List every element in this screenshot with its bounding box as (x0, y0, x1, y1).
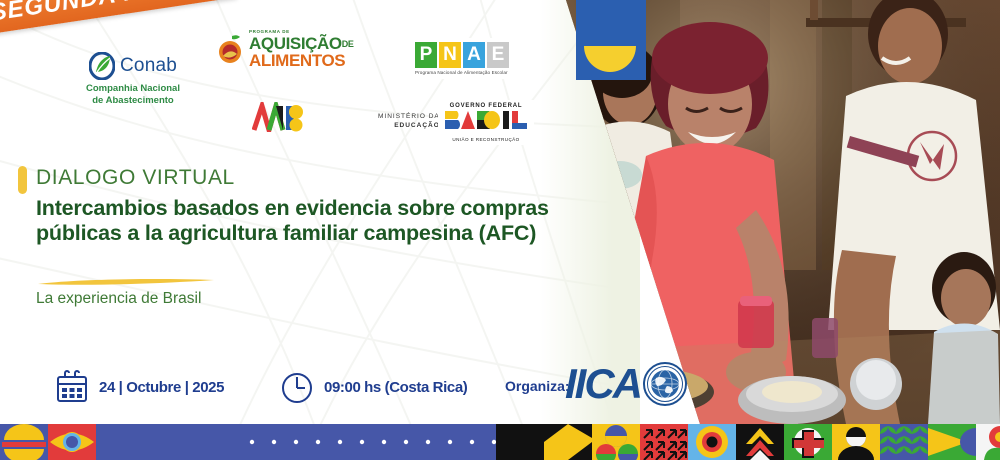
mds-logo-icon (252, 102, 304, 132)
organizer-logo: IICA (565, 362, 687, 406)
band-tile-chevron (736, 424, 784, 460)
band-tile-figure (832, 424, 880, 460)
band-tile-yellow-dome (0, 424, 48, 460)
orange-fruit-icon (218, 34, 244, 64)
paa-line1: AQUISIÇÃO (249, 34, 342, 53)
pnae-subtitle: Programa Nacional de Alimentação Escolar (415, 70, 509, 75)
iica-globe-seal-icon (643, 362, 687, 406)
pnae-letter-e: E (487, 42, 509, 68)
mec-line2: EDUCAÇÃO (378, 121, 440, 130)
poster-root: SEGUNDA PARTE Conab Companhia Nacional d… (0, 0, 1000, 460)
brasil-wordmark-icon (443, 109, 529, 131)
iica-wordmark: IICA (565, 363, 641, 405)
band-tile-green-triangle (928, 424, 976, 460)
band-tile-wheat (880, 424, 928, 460)
blue-square-semicircles-icon (566, 0, 656, 84)
band-dots-section (96, 424, 496, 460)
title-accent-bar (18, 166, 27, 194)
logo-pnae: P N A E Programa Nacional de Alimentação… (409, 38, 515, 79)
title-kicker: DIALOGO VIRTUAL (36, 166, 235, 190)
band-tile-black (496, 424, 544, 460)
pnae-letter-a: A (463, 42, 485, 68)
band-tile-circle-faces (592, 424, 640, 460)
logo-governo-federal: GOVERNO FEDERAL UNIÃO E RECONSTRUÇÃO (438, 100, 534, 145)
clock-icon (280, 370, 314, 404)
band-tile-triangles (544, 424, 592, 460)
conab-subtitle-line1: Companhia Nacional (68, 83, 198, 95)
organizer-label: Organiza: (505, 378, 570, 394)
yellow-brush-underline (36, 278, 216, 286)
event-meta: 24 | Octubre | 2025 09:00 hs (Costa Rica… (55, 370, 467, 404)
gov-bottom-label: UNIÃO E RECONSTRUÇÃO (443, 137, 529, 142)
page-title: Intercambios basados en evidencia sobre … (36, 196, 576, 246)
logo-paa: PROGRAMA DE AQUISIÇÃODE ALIMENTOS (218, 30, 353, 69)
mec-line1: MINISTÉRIO DA (378, 112, 440, 121)
event-time: 09:00 hs (Costa Rica) (324, 379, 467, 396)
conab-subtitle-line2: de Abastecimento (68, 95, 198, 107)
band-tile-target (688, 424, 736, 460)
band-tile-green-cross (784, 424, 832, 460)
logo-conab: Conab Companhia Nacional de Abasteciment… (68, 52, 198, 106)
decorative-bottom-band (0, 424, 1000, 460)
pnae-letter-p: P (415, 42, 437, 68)
logo-ministerio-educacao: MINISTÉRIO DA EDUCAÇÃO (378, 112, 440, 130)
paa-line1-suffix: DE (342, 39, 354, 49)
band-tile-red-arrows (640, 424, 688, 460)
event-date: 24 | Octubre | 2025 (99, 379, 224, 396)
calendar-icon (55, 370, 89, 404)
paa-line2: ALIMENTOS (249, 52, 353, 69)
band-tile-flower (976, 424, 1000, 460)
title-subtitle: La experiencia de Brasil (36, 290, 201, 308)
pnae-letter-n: N (439, 42, 461, 68)
conab-leaf-icon (89, 52, 115, 80)
conab-name: Conab (120, 55, 177, 77)
band-tile-eye (48, 424, 96, 460)
